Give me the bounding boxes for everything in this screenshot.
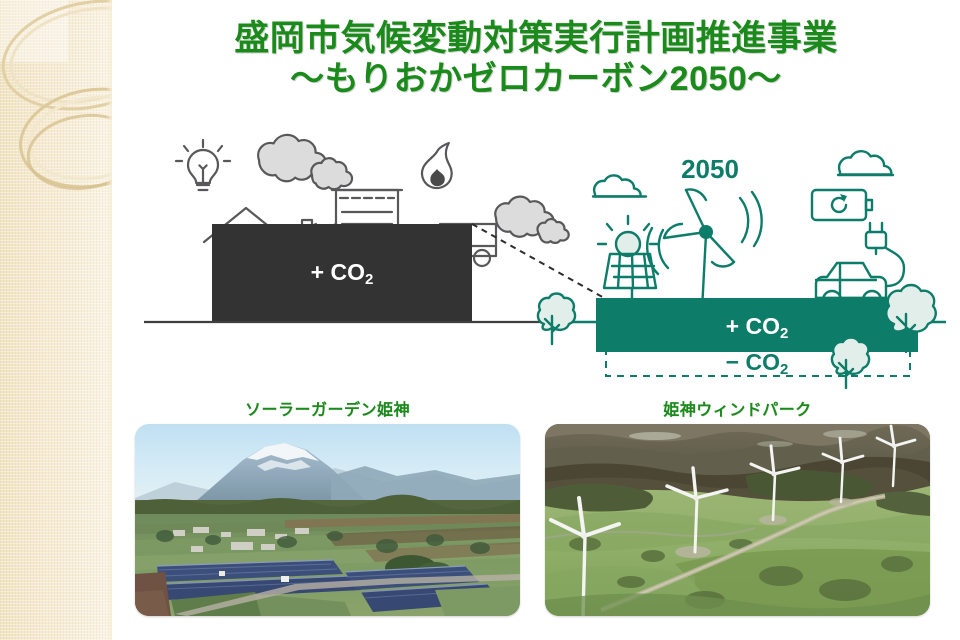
lightbulb-icon <box>176 140 230 190</box>
offset-co2-label: − CO2 <box>726 349 789 378</box>
title-line-2: 〜もりおかゼロカーボン2050〜 <box>112 59 960 99</box>
title-line-1: 盛岡市気候変動対策実行計画推進事業 <box>112 18 960 59</box>
tree-icon <box>832 338 869 389</box>
year-2050-label: 2050 <box>681 154 739 184</box>
future-co2-label: + CO2 <box>726 313 789 342</box>
cloud-icon <box>593 175 646 196</box>
cloud-icon <box>838 151 893 175</box>
slide-title: 盛岡市気候変動対策実行計画推進事業 〜もりおかゼロカーボン2050〜 <box>112 18 960 99</box>
photo-caption-solar-garden: ソーラーガーデン姫神 <box>135 398 520 424</box>
zero-carbon-infographic: .gl{fill:none;stroke:#58585a;stroke-widt… <box>140 128 950 393</box>
cloud-icon <box>258 135 352 189</box>
photo-card-solar-garden: ソーラーガーデン姫神 <box>135 398 520 616</box>
solar-garden-himekami-photo <box>135 424 520 616</box>
present-co2-label: + CO2 <box>311 259 374 288</box>
photo-caption-wind-park: 姫神ウィンドパーク <box>545 398 930 424</box>
battery-recycle-icon <box>812 190 872 220</box>
wind-turbine-icon <box>647 189 761 310</box>
tree-icon <box>538 294 575 345</box>
flame-icon <box>422 143 452 188</box>
border-rings-decoration <box>0 0 112 330</box>
cloud-icon <box>495 197 568 243</box>
decorative-left-border <box>0 0 112 640</box>
solar-panel-icon <box>598 216 658 310</box>
photo-row: ソーラーガーデン姫神 <box>130 398 940 623</box>
photo-card-wind-park: 姫神ウィンドパーク <box>545 398 930 616</box>
himekami-wind-park-photo <box>545 424 930 616</box>
